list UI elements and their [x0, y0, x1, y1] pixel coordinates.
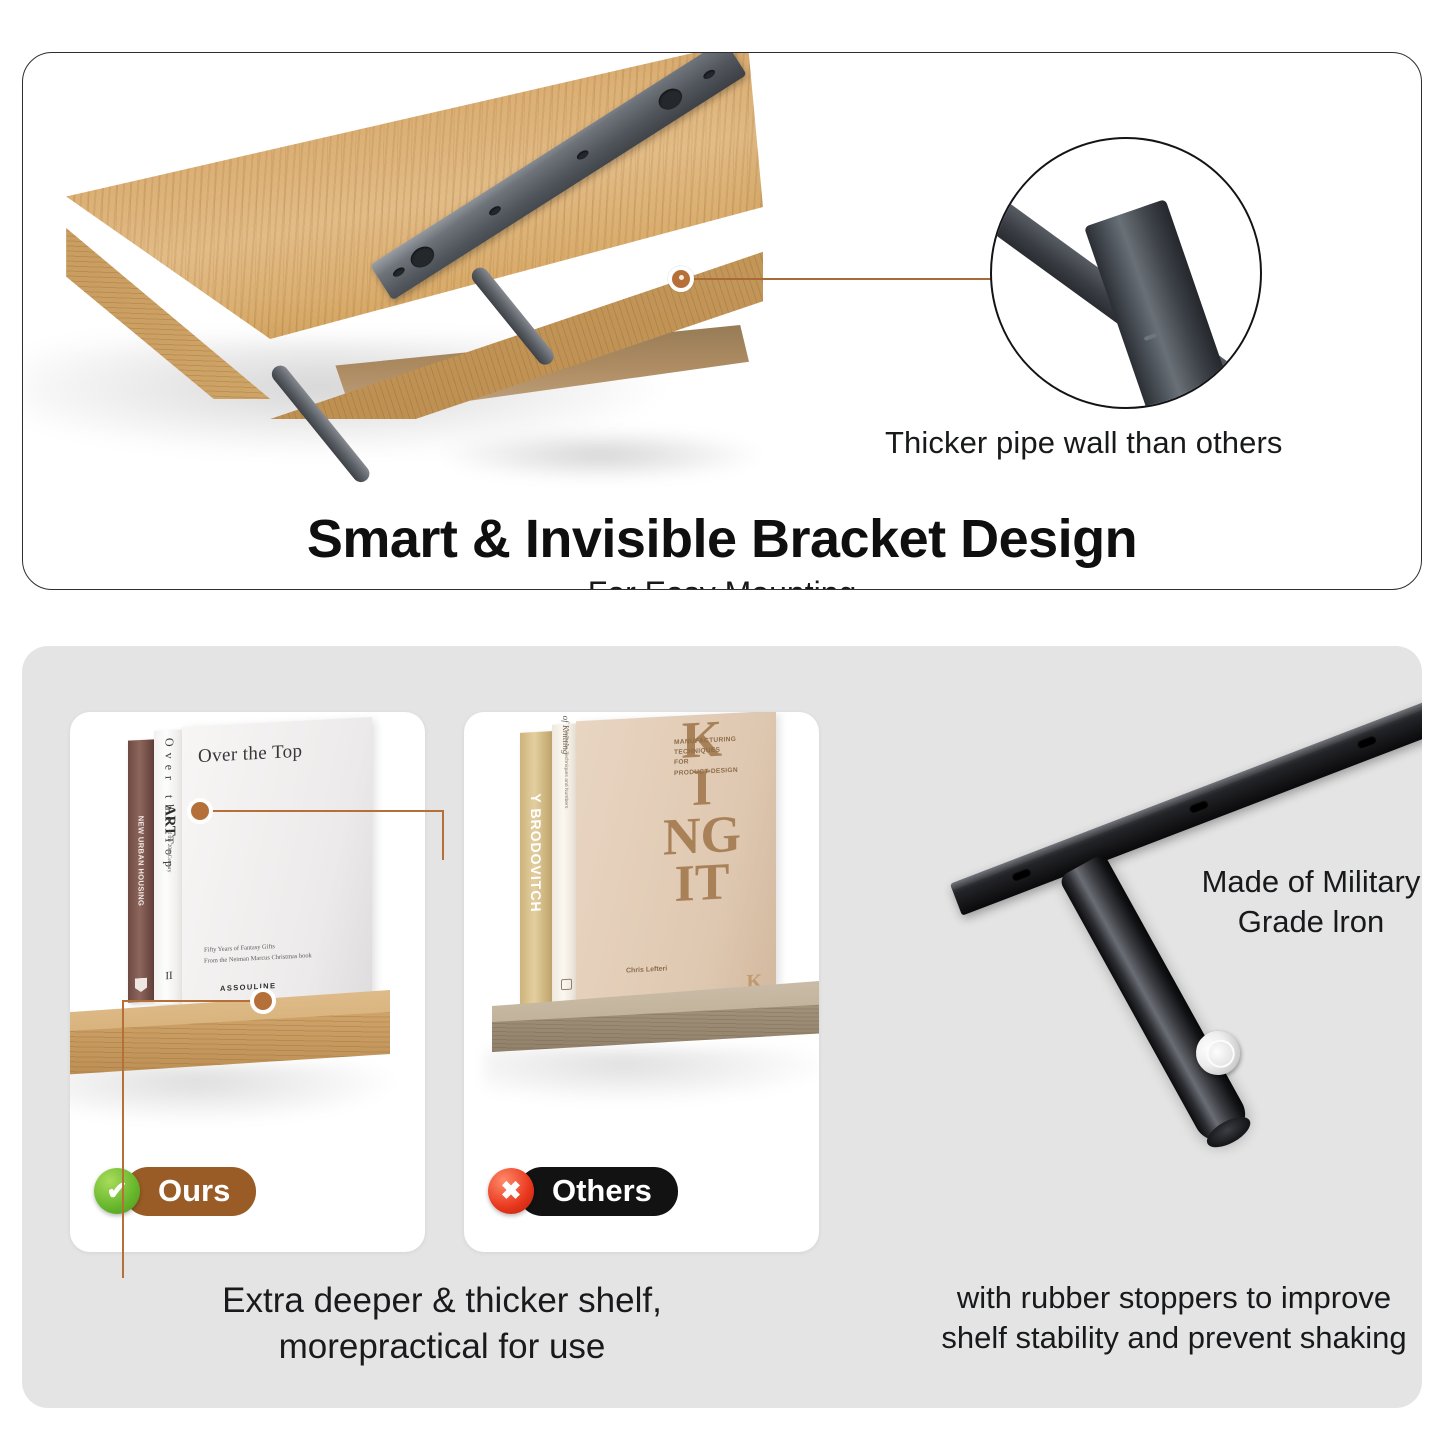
- publisher-mark-icon: [135, 978, 147, 993]
- callout-rubber-label: with rubber stoppers to improve shelf st…: [916, 1278, 1432, 1359]
- callout-dot-material: [187, 798, 213, 824]
- comparison-caption-line1: Extra deeper & thicker shelf,: [62, 1278, 822, 1324]
- headline: Smart & Invisible Bracket Design: [23, 508, 1421, 570]
- others-shelf-scene: Y BRODOVITCH of Knitting Methods, Techni…: [464, 712, 819, 1152]
- bracket-tube-upper: [468, 264, 557, 368]
- callout-line-rubber-horizontal: [122, 1000, 254, 1002]
- subheadline: For Easy Mounting: [23, 575, 1421, 590]
- mounting-hole-large-2: [655, 84, 686, 113]
- ours-shelf-shadow: [70, 1064, 400, 1124]
- book-spine-new-urban-housing: NEW URBAN HOUSING: [128, 739, 154, 1002]
- callout-material-line1: Made of Military: [1186, 862, 1436, 902]
- book-cover-making-it: K I NG IT MANUFACTURING TECHNIQUES FOR P…: [576, 712, 776, 1013]
- badge-ours-label: Ours: [124, 1167, 256, 1216]
- feature-graphic-page: Thicker pipe wall than others Smart & In…: [0, 0, 1445, 1433]
- mounting-slot-2: [1188, 798, 1210, 814]
- book-spine-brodovitch: Y BRODOVITCH: [520, 731, 552, 1007]
- book-spine-volume: II: [165, 970, 172, 982]
- mounting-slot-1: [1010, 867, 1032, 883]
- mounting-hole-large-1: [407, 242, 438, 271]
- callout-rubber-line1: with rubber stoppers to improve: [916, 1278, 1432, 1318]
- comparison-caption-line2: morepractical for use: [62, 1324, 822, 1370]
- callout-line-material-horizontal: [212, 810, 444, 812]
- callout-line-rubber-vertical: [122, 1000, 124, 1278]
- book-cover-title: Over the Top: [198, 741, 302, 768]
- book-cover-over-the-top: Over the Top Fifty Years of Fantasy Gift…: [182, 717, 372, 1013]
- book-cover-author: Chris Lefteri: [626, 965, 667, 974]
- book-spine-label: NEW URBAN HOUSING: [137, 815, 146, 906]
- book-cover-caption: MANUFACTURING TECHNIQUES FOR PRODUCT DES…: [674, 734, 760, 779]
- book-cover-subtitle: Fifty Years of Fantasy Gifts From the Ne…: [204, 940, 312, 967]
- mounting-hole-small-4: [702, 68, 717, 81]
- callout-thicker-pipe-label: Thicker pipe wall than others: [885, 425, 1405, 461]
- book-spine-art: Over the Top ART of the 20th Century II: [154, 729, 184, 1005]
- book-spine-subtitle: Methods, Techniques and Numbers: [563, 730, 569, 809]
- callout-rubber-line2: shelf stability and prevent shaking: [916, 1318, 1432, 1358]
- callout-line-material-vertical: [442, 810, 444, 860]
- bracket-drop-shadow: [435, 429, 765, 481]
- others-shelf-shadow: [484, 1048, 819, 1104]
- mounting-hole-small-2: [488, 204, 503, 217]
- callout-dot-thicker-pipe: [668, 266, 694, 292]
- mounting-slot-3: [1356, 734, 1378, 750]
- callout-material-line2: Grade lron: [1186, 902, 1436, 942]
- callout-dot-rubber: [250, 988, 276, 1014]
- badge-others: ✖ Others: [488, 1167, 678, 1216]
- mounting-hole-small-3: [575, 149, 590, 162]
- book-spine-art-sub: of the 20th Century: [166, 829, 172, 872]
- callout-material-label: Made of Military Grade lron: [1186, 862, 1436, 941]
- top-feature-panel: Thicker pipe wall than others Smart & In…: [22, 52, 1422, 590]
- mounting-hole-small-1: [391, 266, 406, 279]
- metal-bracket-illustration: [375, 249, 875, 509]
- book-spine-label: Y BRODOVITCH: [528, 793, 544, 913]
- comparison-caption: Extra deeper & thicker shelf, morepracti…: [62, 1278, 822, 1370]
- comparison-card-others: Y BRODOVITCH of Knitting Methods, Techni…: [464, 712, 819, 1252]
- callout-line-thicker-pipe: [691, 278, 991, 280]
- publisher-mark-icon: [561, 979, 572, 991]
- bracket-joint-magnifier: [990, 137, 1262, 409]
- badge-ours: ✔ Ours: [94, 1167, 256, 1216]
- badge-others-label: Others: [518, 1167, 678, 1216]
- wall-plate-top-edge: [950, 683, 1422, 890]
